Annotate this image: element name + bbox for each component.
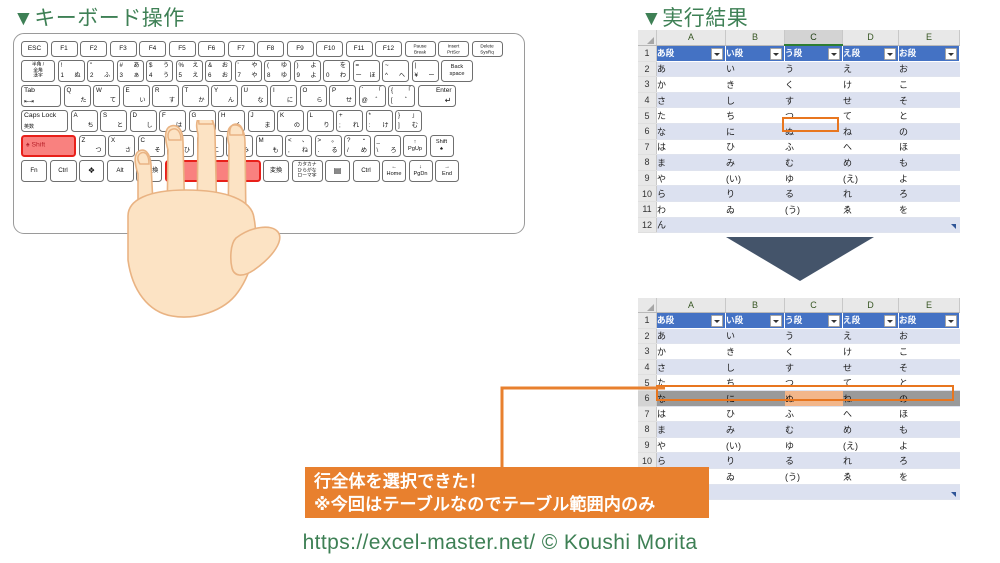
key-o[interactable]: Oら: [300, 85, 327, 107]
table-cell[interactable]: れ: [843, 186, 899, 202]
select-all-corner[interactable]: [638, 298, 657, 313]
table-header-cell[interactable]: あ段: [657, 313, 726, 329]
table-cell[interactable]: ら: [657, 186, 726, 202]
table-cell[interactable]: わ: [657, 201, 726, 217]
table-cell[interactable]: て: [843, 108, 899, 124]
key-kana-mode[interactable]: カタカナひらがなローマ字: [292, 160, 323, 182]
column-header-C[interactable]: C: [785, 298, 843, 313]
table-cell[interactable]: に: [726, 123, 785, 139]
key-pgdn[interactable]: ↓PgDn: [409, 160, 433, 182]
key-numrow-2[interactable]: "2ふ: [87, 60, 114, 82]
row-header-10[interactable]: 10: [638, 186, 657, 202]
key-esc[interactable]: ESC: [21, 41, 48, 57]
key-numrow-5[interactable]: %え5え: [176, 60, 203, 82]
key-l[interactable]: Lり: [307, 110, 334, 132]
row-header-6[interactable]: 6: [638, 123, 657, 139]
table-cell[interactable]: た: [657, 108, 726, 124]
key-numrow-0[interactable]: 半角 /全角漢字: [21, 60, 55, 82]
column-header-B[interactable]: B: [726, 30, 785, 45]
table-header-label: い段: [726, 48, 743, 58]
key-f11[interactable]: F11: [346, 41, 373, 57]
key-f8[interactable]: F8: [257, 41, 284, 57]
table-cell[interactable]: ね: [843, 123, 899, 139]
row-header-3[interactable]: 3: [638, 344, 657, 360]
key-f5[interactable]: F5: [169, 41, 196, 57]
table-cell[interactable]: る: [785, 186, 843, 202]
row-header-2[interactable]: 2: [638, 61, 657, 77]
key-f4[interactable]: F4: [139, 41, 166, 57]
column-header-E[interactable]: E: [899, 30, 960, 45]
table-cell[interactable]: せ: [843, 359, 899, 375]
filter-dropdown-icon[interactable]: [711, 48, 723, 60]
key-numrow-14[interactable]: Backspace: [441, 60, 473, 82]
table-cell[interactable]: (え): [843, 170, 899, 186]
callout-box: 行全体を選択できた！ ※今回はテーブルなのでテーブル範囲内のみ: [305, 467, 709, 518]
active-cell-highlight-before: [782, 117, 839, 132]
table-cell[interactable]: む: [785, 155, 843, 171]
table-cell[interactable]: ゐ: [726, 201, 785, 217]
table-cell[interactable]: ふ: [785, 139, 843, 155]
table-cell[interactable]: ろ: [899, 186, 960, 202]
table-cell[interactable]: め: [843, 155, 899, 171]
table-cell[interactable]: か: [657, 77, 726, 93]
table-cell[interactable]: へ: [843, 139, 899, 155]
key-変換[interactable]: 変換: [263, 160, 289, 182]
row-header-1[interactable]: 1: [638, 45, 657, 61]
table-cell[interactable]: ひ: [726, 406, 785, 422]
table-cell[interactable]: み: [726, 422, 785, 438]
table-header-label: え段: [843, 315, 860, 325]
key-j[interactable]: Jま: [248, 110, 275, 132]
column-header-D[interactable]: D: [843, 30, 899, 45]
table-cell[interactable]: む: [785, 422, 843, 438]
key-b[interactable]: Bこ: [197, 135, 224, 157]
table-cell[interactable]: き: [726, 77, 785, 93]
row-header-12[interactable]: 12: [638, 217, 657, 233]
key-f6[interactable]: F6: [198, 41, 225, 57]
table-header-cell[interactable]: え段: [843, 45, 899, 61]
table-header-cell[interactable]: い段: [726, 313, 785, 329]
filter-dropdown-icon[interactable]: [884, 315, 896, 327]
table-cell[interactable]: ゐ: [726, 468, 785, 484]
key-n[interactable]: Nみ: [226, 135, 253, 157]
key-caps-lock[interactable]: Caps Lock英数: [21, 110, 68, 132]
filter-dropdown-icon[interactable]: [828, 48, 840, 60]
key-fn[interactable]: Fn: [21, 160, 47, 182]
key-f2[interactable]: F2: [80, 41, 107, 57]
filter-dropdown-icon[interactable]: [770, 48, 782, 60]
key-k[interactable]: Kの: [277, 110, 304, 132]
key-space[interactable]: [165, 160, 261, 182]
key-numrow-11[interactable]: =ーほ: [353, 60, 380, 82]
table-header-cell[interactable]: お段: [899, 313, 960, 329]
key-p[interactable]: Pせ: [329, 85, 356, 107]
column-header-D[interactable]: D: [843, 298, 899, 313]
table-cell[interactable]: へ: [843, 406, 899, 422]
table-cell[interactable]: か: [657, 344, 726, 360]
key-f9[interactable]: F9: [287, 41, 314, 57]
table-cell[interactable]: な: [657, 123, 726, 139]
table-cell[interactable]: は: [657, 139, 726, 155]
table-header-label: お段: [899, 315, 916, 325]
row-header-8[interactable]: 8: [638, 155, 657, 171]
selected-row-highlight: [656, 385, 954, 401]
filter-dropdown-icon[interactable]: [945, 315, 957, 327]
table-header-cell[interactable]: え段: [843, 313, 899, 329]
key-shift-left[interactable]: ♠ Shift: [21, 135, 76, 157]
key-numrow-8[interactable]: (ゆ8ゆ: [264, 60, 291, 82]
table-cell[interactable]: を: [899, 468, 960, 484]
key-s[interactable]: Sと: [100, 110, 127, 132]
callout-line-2: ※今回はテーブルなのでテーブル範囲内のみ: [314, 493, 709, 516]
key-numrow-4[interactable]: $う4う: [146, 60, 173, 82]
table-cell[interactable]: (い): [726, 437, 785, 453]
table-cell[interactable]: そ: [899, 359, 960, 375]
table-cell[interactable]: [726, 484, 785, 500]
key-numrow-13[interactable]: |¥ー: [412, 60, 439, 82]
table-cell[interactable]: ゆ: [785, 170, 843, 186]
table-cell[interactable]: ゆ: [785, 437, 843, 453]
table-resize-handle[interactable]: [951, 492, 956, 499]
key-m[interactable]: Mも: [256, 135, 283, 157]
key-i[interactable]: Iに: [270, 85, 297, 107]
key-`[interactable]: `「@゛: [359, 85, 386, 107]
key-}[interactable]: }」]む: [395, 110, 422, 132]
table-header-label: う段: [785, 315, 802, 325]
table-cell[interactable]: (う): [785, 468, 843, 484]
table-cell[interactable]: ゑ: [843, 468, 899, 484]
table-resize-handle[interactable]: [951, 224, 956, 232]
row-header-11[interactable]: 11: [638, 201, 657, 217]
keyboard-section-title: ▼キーボード操作: [13, 2, 185, 32]
table-cell[interactable]: う: [785, 328, 843, 344]
table-cell[interactable]: う: [785, 61, 843, 77]
filter-dropdown-icon[interactable]: [828, 315, 840, 327]
key-q[interactable]: Qた: [64, 85, 91, 107]
key-f1[interactable]: F1: [51, 41, 78, 57]
row-header-9[interactable]: 9: [638, 170, 657, 186]
key-d[interactable]: Dし: [130, 110, 157, 132]
table-cell[interactable]: さ: [657, 359, 726, 375]
table-cell[interactable]: り: [726, 453, 785, 469]
table-cell[interactable]: み: [726, 155, 785, 171]
thumb: [231, 227, 280, 275]
table-cell[interactable]: あ: [657, 61, 726, 77]
key-f3[interactable]: F3: [110, 41, 137, 57]
callout-line-1: 行全体を選択できた！: [314, 470, 709, 493]
key-numrow-12[interactable]: ~^へ: [382, 60, 409, 82]
table-header-label: え段: [843, 48, 860, 58]
key-+[interactable]: +;れ: [336, 110, 363, 132]
key-enter[interactable]: Enter↵: [418, 85, 456, 107]
row-header-7[interactable]: 7: [638, 139, 657, 155]
table-cell[interactable]: ゑ: [843, 201, 899, 217]
key-z[interactable]: Zつ: [79, 135, 106, 157]
table-cell[interactable]: も: [899, 155, 960, 171]
table-cell[interactable]: [785, 217, 843, 233]
table-cell[interactable]: し: [726, 92, 785, 108]
table-cell[interactable]: る: [785, 453, 843, 469]
table-cell[interactable]: く: [785, 344, 843, 360]
table-cell[interactable]: お: [899, 61, 960, 77]
table-cell[interactable]: ほ: [899, 406, 960, 422]
column-header-E[interactable]: E: [899, 298, 960, 313]
key-v[interactable]: Vひ: [167, 135, 194, 157]
filter-dropdown-icon[interactable]: [884, 48, 896, 60]
table-cell[interactable]: い: [726, 61, 785, 77]
key-delete[interactable]: DeleteSysRq: [472, 41, 503, 57]
callout-connector-line: [495, 380, 665, 475]
table-cell[interactable]: と: [899, 108, 960, 124]
table-header-label: い段: [726, 315, 743, 325]
row-header-4[interactable]: 4: [638, 359, 657, 375]
filter-dropdown-icon[interactable]: [945, 48, 957, 60]
row-header-4[interactable]: 4: [638, 92, 657, 108]
row-header-2[interactable]: 2: [638, 328, 657, 344]
select-all-corner[interactable]: [638, 30, 657, 45]
key-*[interactable]: *:け: [366, 110, 393, 132]
table-cell[interactable]: ろ: [899, 453, 960, 469]
table-cell[interactable]: せ: [843, 92, 899, 108]
key-t[interactable]: Tか: [182, 85, 209, 107]
down-arrow-icon: [726, 237, 874, 281]
table-cell[interactable]: き: [726, 344, 785, 360]
table-cell[interactable]: ふ: [785, 406, 843, 422]
key-numrow-10[interactable]: を0わ: [323, 60, 350, 82]
key-pause[interactable]: PauseBreak: [405, 41, 436, 57]
key-f10[interactable]: F10: [316, 41, 343, 57]
table-cell[interactable]: ひ: [726, 139, 785, 155]
keyboard-illustration: ESCF1F2F3F4F5F6F7F8F9F10F11F12PauseBreak…: [13, 33, 525, 234]
key-menu[interactable]: ▤: [325, 160, 350, 182]
table-cell[interactable]: け: [843, 77, 899, 93]
key-shift[interactable]: Shift♠: [430, 135, 454, 157]
table-cell[interactable]: は: [657, 406, 726, 422]
table-cell[interactable]: や: [657, 170, 726, 186]
table-cell[interactable]: え: [843, 61, 899, 77]
table-cell[interactable]: し: [726, 359, 785, 375]
key-r[interactable]: Rす: [152, 85, 179, 107]
table-cell[interactable]: ま: [657, 155, 726, 171]
key-f7[interactable]: F7: [228, 41, 255, 57]
table-cell[interactable]: ん: [657, 217, 726, 233]
table-header-cell[interactable]: う段: [785, 313, 843, 329]
column-header-A[interactable]: A: [657, 298, 726, 313]
key-numrow-1[interactable]: !1ぬ: [58, 60, 85, 82]
table-cell[interactable]: [785, 484, 843, 500]
key-e[interactable]: Eい: [123, 85, 150, 107]
table-cell[interactable]: く: [785, 77, 843, 93]
key-{[interactable]: {「[゜: [388, 85, 415, 107]
key-numrow-7[interactable]: 'や7や: [235, 60, 262, 82]
key-?[interactable]: ?・/め: [344, 135, 371, 157]
key-f12[interactable]: F12: [375, 41, 402, 57]
key-windows[interactable]: ❖: [79, 160, 104, 182]
table-cell[interactable]: お: [899, 328, 960, 344]
key-home[interactable]: ←Home: [382, 160, 406, 182]
table-cell[interactable]: を: [899, 201, 960, 217]
column-header-A[interactable]: A: [657, 30, 726, 45]
table-cell[interactable]: い: [726, 328, 785, 344]
footer-credit: https://excel-master.net/ © Koushi Morit…: [0, 531, 1000, 555]
row-header-3[interactable]: 3: [638, 77, 657, 93]
table-cell[interactable]: (い): [726, 170, 785, 186]
table-cell[interactable]: れ: [843, 453, 899, 469]
key-y[interactable]: Yん: [211, 85, 238, 107]
excel-table-before[interactable]: ABCDE1あ段い段う段え段お段2あいうえお3かきくけこ4さしすせそ5たちつてと…: [638, 30, 960, 233]
key-numrow-9[interactable]: )よ9よ: [294, 60, 321, 82]
table-cell[interactable]: (う): [785, 201, 843, 217]
row-header-5[interactable]: 5: [638, 108, 657, 124]
table-cell[interactable]: ち: [726, 108, 785, 124]
table-header-label: あ段: [657, 315, 674, 325]
table-cell[interactable]: り: [726, 186, 785, 202]
table-header-cell[interactable]: お段: [899, 45, 960, 61]
key-alt[interactable]: Alt: [107, 160, 134, 182]
table-cell[interactable]: こ: [899, 77, 960, 93]
table-header-cell[interactable]: い段: [726, 45, 785, 61]
table-cell[interactable]: よ: [899, 437, 960, 453]
key-ctrl[interactable]: Ctrl: [50, 160, 77, 182]
table-header-cell[interactable]: あ段: [657, 45, 726, 61]
table-cell[interactable]: あ: [657, 328, 726, 344]
filter-dropdown-icon[interactable]: [770, 315, 782, 327]
key-end[interactable]: →End: [435, 160, 459, 182]
key-x[interactable]: Xさ: [108, 135, 135, 157]
table-cell[interactable]: こ: [899, 344, 960, 360]
result-section-title: ▼実行結果: [641, 2, 748, 32]
key-_[interactable]: _\ろ: [374, 135, 401, 157]
table-cell[interactable]: め: [843, 422, 899, 438]
table-cell[interactable]: す: [785, 92, 843, 108]
key->[interactable]: >。.る: [315, 135, 342, 157]
table-cell[interactable]: も: [899, 422, 960, 438]
filter-dropdown-icon[interactable]: [711, 315, 723, 327]
table-cell[interactable]: [843, 217, 899, 233]
key-c[interactable]: Cそ: [138, 135, 165, 157]
table-cell[interactable]: ほ: [899, 139, 960, 155]
table-cell[interactable]: [843, 484, 899, 500]
table-cell[interactable]: や: [657, 437, 726, 453]
key-insert[interactable]: InsertPrtScr: [438, 41, 469, 57]
key-<[interactable]: <、,ね: [285, 135, 312, 157]
key-g[interactable]: Gき: [189, 110, 216, 132]
key-h[interactable]: Hく: [218, 110, 245, 132]
table-header-cell[interactable]: う段: [785, 45, 843, 61]
key-numrow-6[interactable]: &お6お: [205, 60, 232, 82]
table-header-label: う段: [785, 48, 802, 58]
table-cell[interactable]: の: [899, 123, 960, 139]
key-↑[interactable]: ↑PgUp: [403, 135, 427, 157]
column-header-C[interactable]: C: [785, 30, 843, 45]
key-a[interactable]: Aち: [71, 110, 98, 132]
table-header-label: お段: [899, 48, 916, 58]
key-無変換[interactable]: 無変換: [136, 160, 162, 182]
key-ctrl[interactable]: Ctrl: [353, 160, 380, 182]
table-cell[interactable]: け: [843, 344, 899, 360]
table-cell[interactable]: さ: [657, 92, 726, 108]
column-header-B[interactable]: B: [726, 298, 785, 313]
table-header-label: あ段: [657, 48, 674, 58]
table-cell[interactable]: よ: [899, 170, 960, 186]
key-numrow-3[interactable]: #あ3ぁ: [117, 60, 144, 82]
table-cell[interactable]: [726, 217, 785, 233]
key-w[interactable]: Wて: [93, 85, 120, 107]
table-cell[interactable]: (え): [843, 437, 899, 453]
key-u[interactable]: Uな: [241, 85, 268, 107]
table-cell[interactable]: え: [843, 328, 899, 344]
key-tab[interactable]: Tab⇤⇥: [21, 85, 61, 107]
row-header-1[interactable]: 1: [638, 313, 657, 329]
table-cell[interactable]: そ: [899, 92, 960, 108]
table-cell[interactable]: す: [785, 359, 843, 375]
key-f[interactable]: Fは: [159, 110, 186, 132]
table-cell[interactable]: ま: [657, 422, 726, 438]
